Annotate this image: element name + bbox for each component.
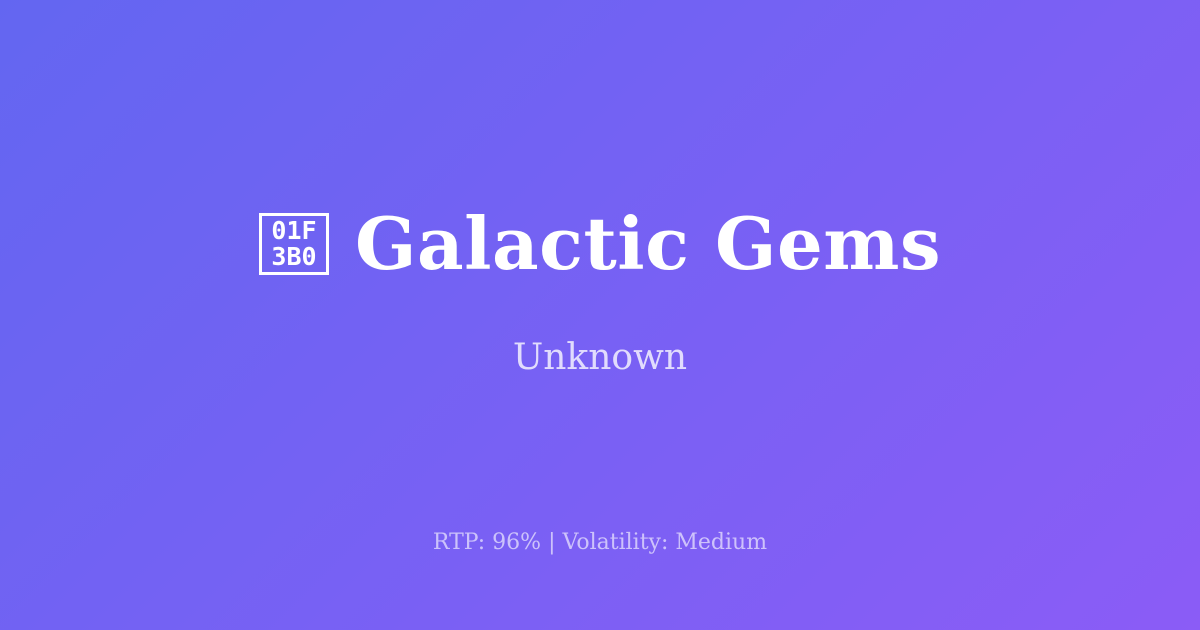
title-row: 01F 3B0 Galactic Gems [259, 206, 941, 282]
game-provider-subtitle: Unknown [513, 338, 687, 378]
tofu-codepoint-bottom: 3B0 [271, 244, 316, 270]
slot-machine-emoji-icon: 01F 3B0 [259, 213, 329, 275]
game-preview-card: 01F 3B0 Galactic Gems Unknown RTP: 96% |… [0, 0, 1200, 630]
game-meta-stats: RTP: 96% | Volatility: Medium [0, 530, 1200, 556]
page-title: Galactic Gems [355, 206, 941, 282]
tofu-codepoint-top: 01F [271, 218, 316, 244]
